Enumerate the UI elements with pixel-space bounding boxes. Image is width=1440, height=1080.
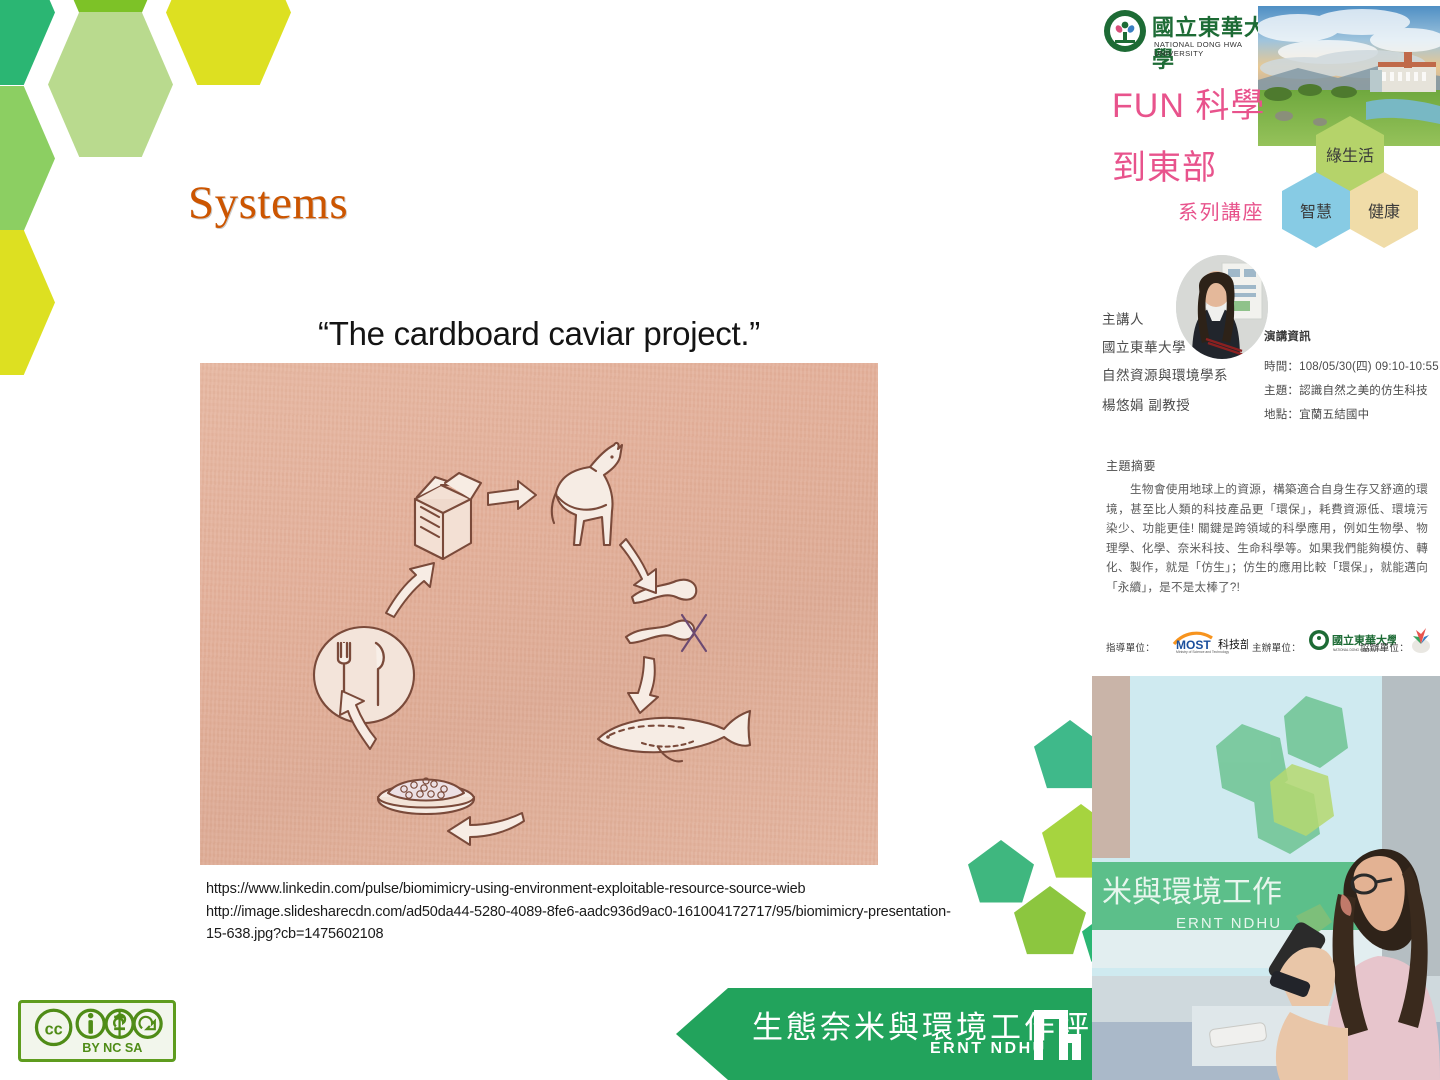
organizer-label-guidance: 指導單位： [1106, 640, 1155, 654]
organizer-label-coorganizer: 協辦單位： [1360, 640, 1409, 654]
page-title: Systems [188, 176, 348, 230]
event-poster: 國立東華大學 NATIONAL DONG HWA UNIVERSITY [1092, 0, 1440, 676]
ndhu-name-en: NATIONAL DONG HWA UNIVERSITY [1154, 40, 1270, 58]
source-urls: https://www.linkedin.com/pulse/biomimicr… [206, 878, 966, 946]
hexagon-shape [0, 230, 55, 375]
hex-badge-label: 健康 [1368, 198, 1400, 222]
hexagon-shape [0, 86, 55, 231]
polygon-shape [1034, 720, 1092, 794]
talk-info-heading: 演講資訊 [1264, 328, 1311, 344]
hexagon-shape [48, 12, 173, 157]
svg-text:cc: cc [45, 1021, 63, 1039]
hexagon-decoration-cluster [0, 0, 260, 340]
speaker-name: 楊悠娟 副教授 [1102, 394, 1190, 414]
speaker-affiliation-2: 自然資源與環境學系 [1102, 364, 1228, 384]
series-subtitle: 系列講座 [1178, 196, 1264, 225]
abstract-body: 生物會使用地球上的資源，構築適合自身生存又舒適的環境，甚至比人類的科技產品更「環… [1106, 480, 1428, 597]
polygon-shape [1014, 886, 1086, 960]
talk-time: 時間：108/05/30(四) 09:10-10:55 [1264, 358, 1439, 374]
svg-text:科技部: 科技部 [1218, 637, 1248, 651]
ndhu-seal-icon [1102, 8, 1148, 54]
cc-by-nc-sa-icon: cc BY NC SA [21, 1003, 173, 1059]
speaker-affiliation-1: 國立東華大學 [1102, 336, 1186, 356]
polygon-shape [1042, 804, 1092, 884]
polygon-decoration-cluster [930, 700, 1092, 1000]
presentation-slide: Systems “The cardboard caviar project.” [0, 0, 1092, 1080]
abstract-heading: 主題摘要 [1106, 457, 1156, 474]
svg-text:Ministry of Science and Techno: Ministry of Science and Technology [1176, 650, 1229, 654]
speaker-role: 主講人 [1102, 308, 1144, 328]
hexagon-shape [0, 0, 55, 85]
screen-text-cn: 米與環境工作 [1102, 876, 1282, 909]
hexagon-shape [48, 0, 173, 13]
series-title-line1: FUN 科學 [1112, 78, 1265, 127]
talk-topic: 主題：認識自然之美的仿生科技 [1264, 382, 1428, 398]
series-title-line2: 到東部 [1112, 140, 1217, 189]
polygon-shape [968, 840, 1034, 908]
creative-commons-license-badge: cc BY NC SA [18, 1000, 176, 1062]
presenter-speaking-photo: 米與環境工作 ERNT NDHU [1092, 676, 1440, 1080]
slide-figure: “The cardboard caviar project.” [200, 305, 878, 865]
ndhu-logo: 國立東華大學 NATIONAL DONG HWA UNIVERSITY [1100, 6, 1270, 58]
screen-text-en: ERNT NDHU [1176, 915, 1282, 932]
organizer-label-host: 主辦單位： [1252, 640, 1301, 654]
hex-badge-label: 智慧 [1300, 198, 1332, 222]
most-logo-icon: MOST 科技部 Ministry of Science and Technol… [1170, 628, 1248, 654]
hexagon-shape [166, 0, 291, 85]
license-terms-label: BY NC SA [82, 1041, 142, 1055]
cardboard-caviar-cycle-diagram [200, 363, 878, 865]
talk-venue: 地點：宜蘭五結國中 [1264, 406, 1369, 422]
figure-caption: “The cardboard caviar project.” [200, 305, 878, 363]
partner-logo-icon [1408, 624, 1434, 654]
speaker-portrait [1176, 255, 1268, 359]
hex-badge-label: 綠生活 [1326, 142, 1374, 166]
ernt-logo-icon [1028, 1004, 1090, 1066]
